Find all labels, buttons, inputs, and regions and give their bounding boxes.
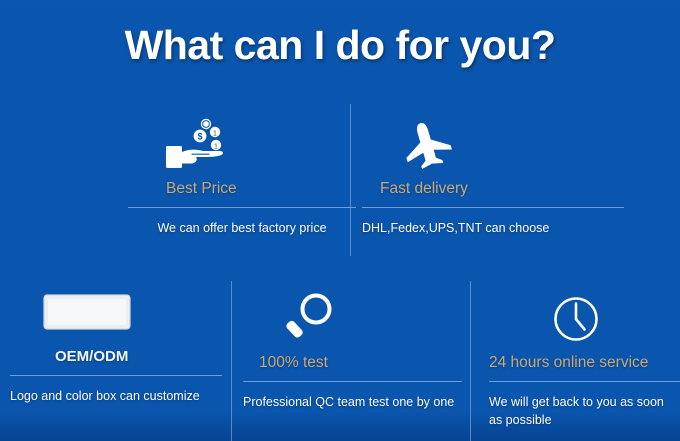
feature-cell-oem-odm: OEM/ODM Logo and color box can customize <box>10 286 222 405</box>
heading-underline <box>10 375 222 376</box>
svg-text:1: 1 <box>214 143 218 150</box>
vertical-divider-bottom-left <box>231 281 232 441</box>
feature-heading: 100% test <box>259 354 462 372</box>
icon-container <box>243 286 462 344</box>
feature-description: We will get back to you as soon as possi… <box>489 393 680 429</box>
vertical-divider-bottom-right <box>470 281 471 441</box>
svg-text:$: $ <box>197 132 202 142</box>
feature-description: DHL,Fedex,UPS,TNT can choose <box>362 219 626 237</box>
feature-heading: 24 hours online service <box>489 354 680 372</box>
feature-description: Logo and color box can customize <box>10 387 222 405</box>
airplane-icon <box>400 118 456 170</box>
svg-text:1: 1 <box>213 130 217 137</box>
promo-poster: What can I do for you? 1 $ 1 <box>0 0 680 441</box>
clock-icon <box>551 294 601 344</box>
heading-underline <box>362 207 624 208</box>
heading-underline <box>128 207 356 208</box>
feature-description: Professional QC team test one by one <box>243 393 462 411</box>
icon-container <box>489 286 680 344</box>
icon-container: 1 $ 1 <box>128 112 356 170</box>
feature-cell-fast-delivery: Fast delivery DHL,Fedex,UPS,TNT can choo… <box>362 112 626 237</box>
feature-description: We can offer best factory price <box>128 219 356 237</box>
product-box-icon <box>42 291 132 333</box>
feature-heading: Best Price <box>166 180 356 198</box>
feature-cell-online-service: 24 hours online service We will get back… <box>489 286 680 429</box>
heading-underline <box>243 381 462 382</box>
page-title: What can I do for you? <box>0 22 680 69</box>
icon-container <box>10 286 222 338</box>
feature-cell-100-percent-test: 100% test Professional QC team test one … <box>243 286 462 411</box>
feature-heading: Fast delivery <box>380 180 626 198</box>
heading-underline <box>489 381 680 382</box>
hand-with-coins-icon: 1 $ 1 <box>162 118 234 170</box>
icon-container <box>362 112 626 170</box>
magnifier-icon <box>283 290 337 344</box>
feature-cell-best-price: 1 $ 1 Best Price We can offer best facto… <box>128 112 356 237</box>
feature-heading: OEM/ODM <box>55 348 222 365</box>
